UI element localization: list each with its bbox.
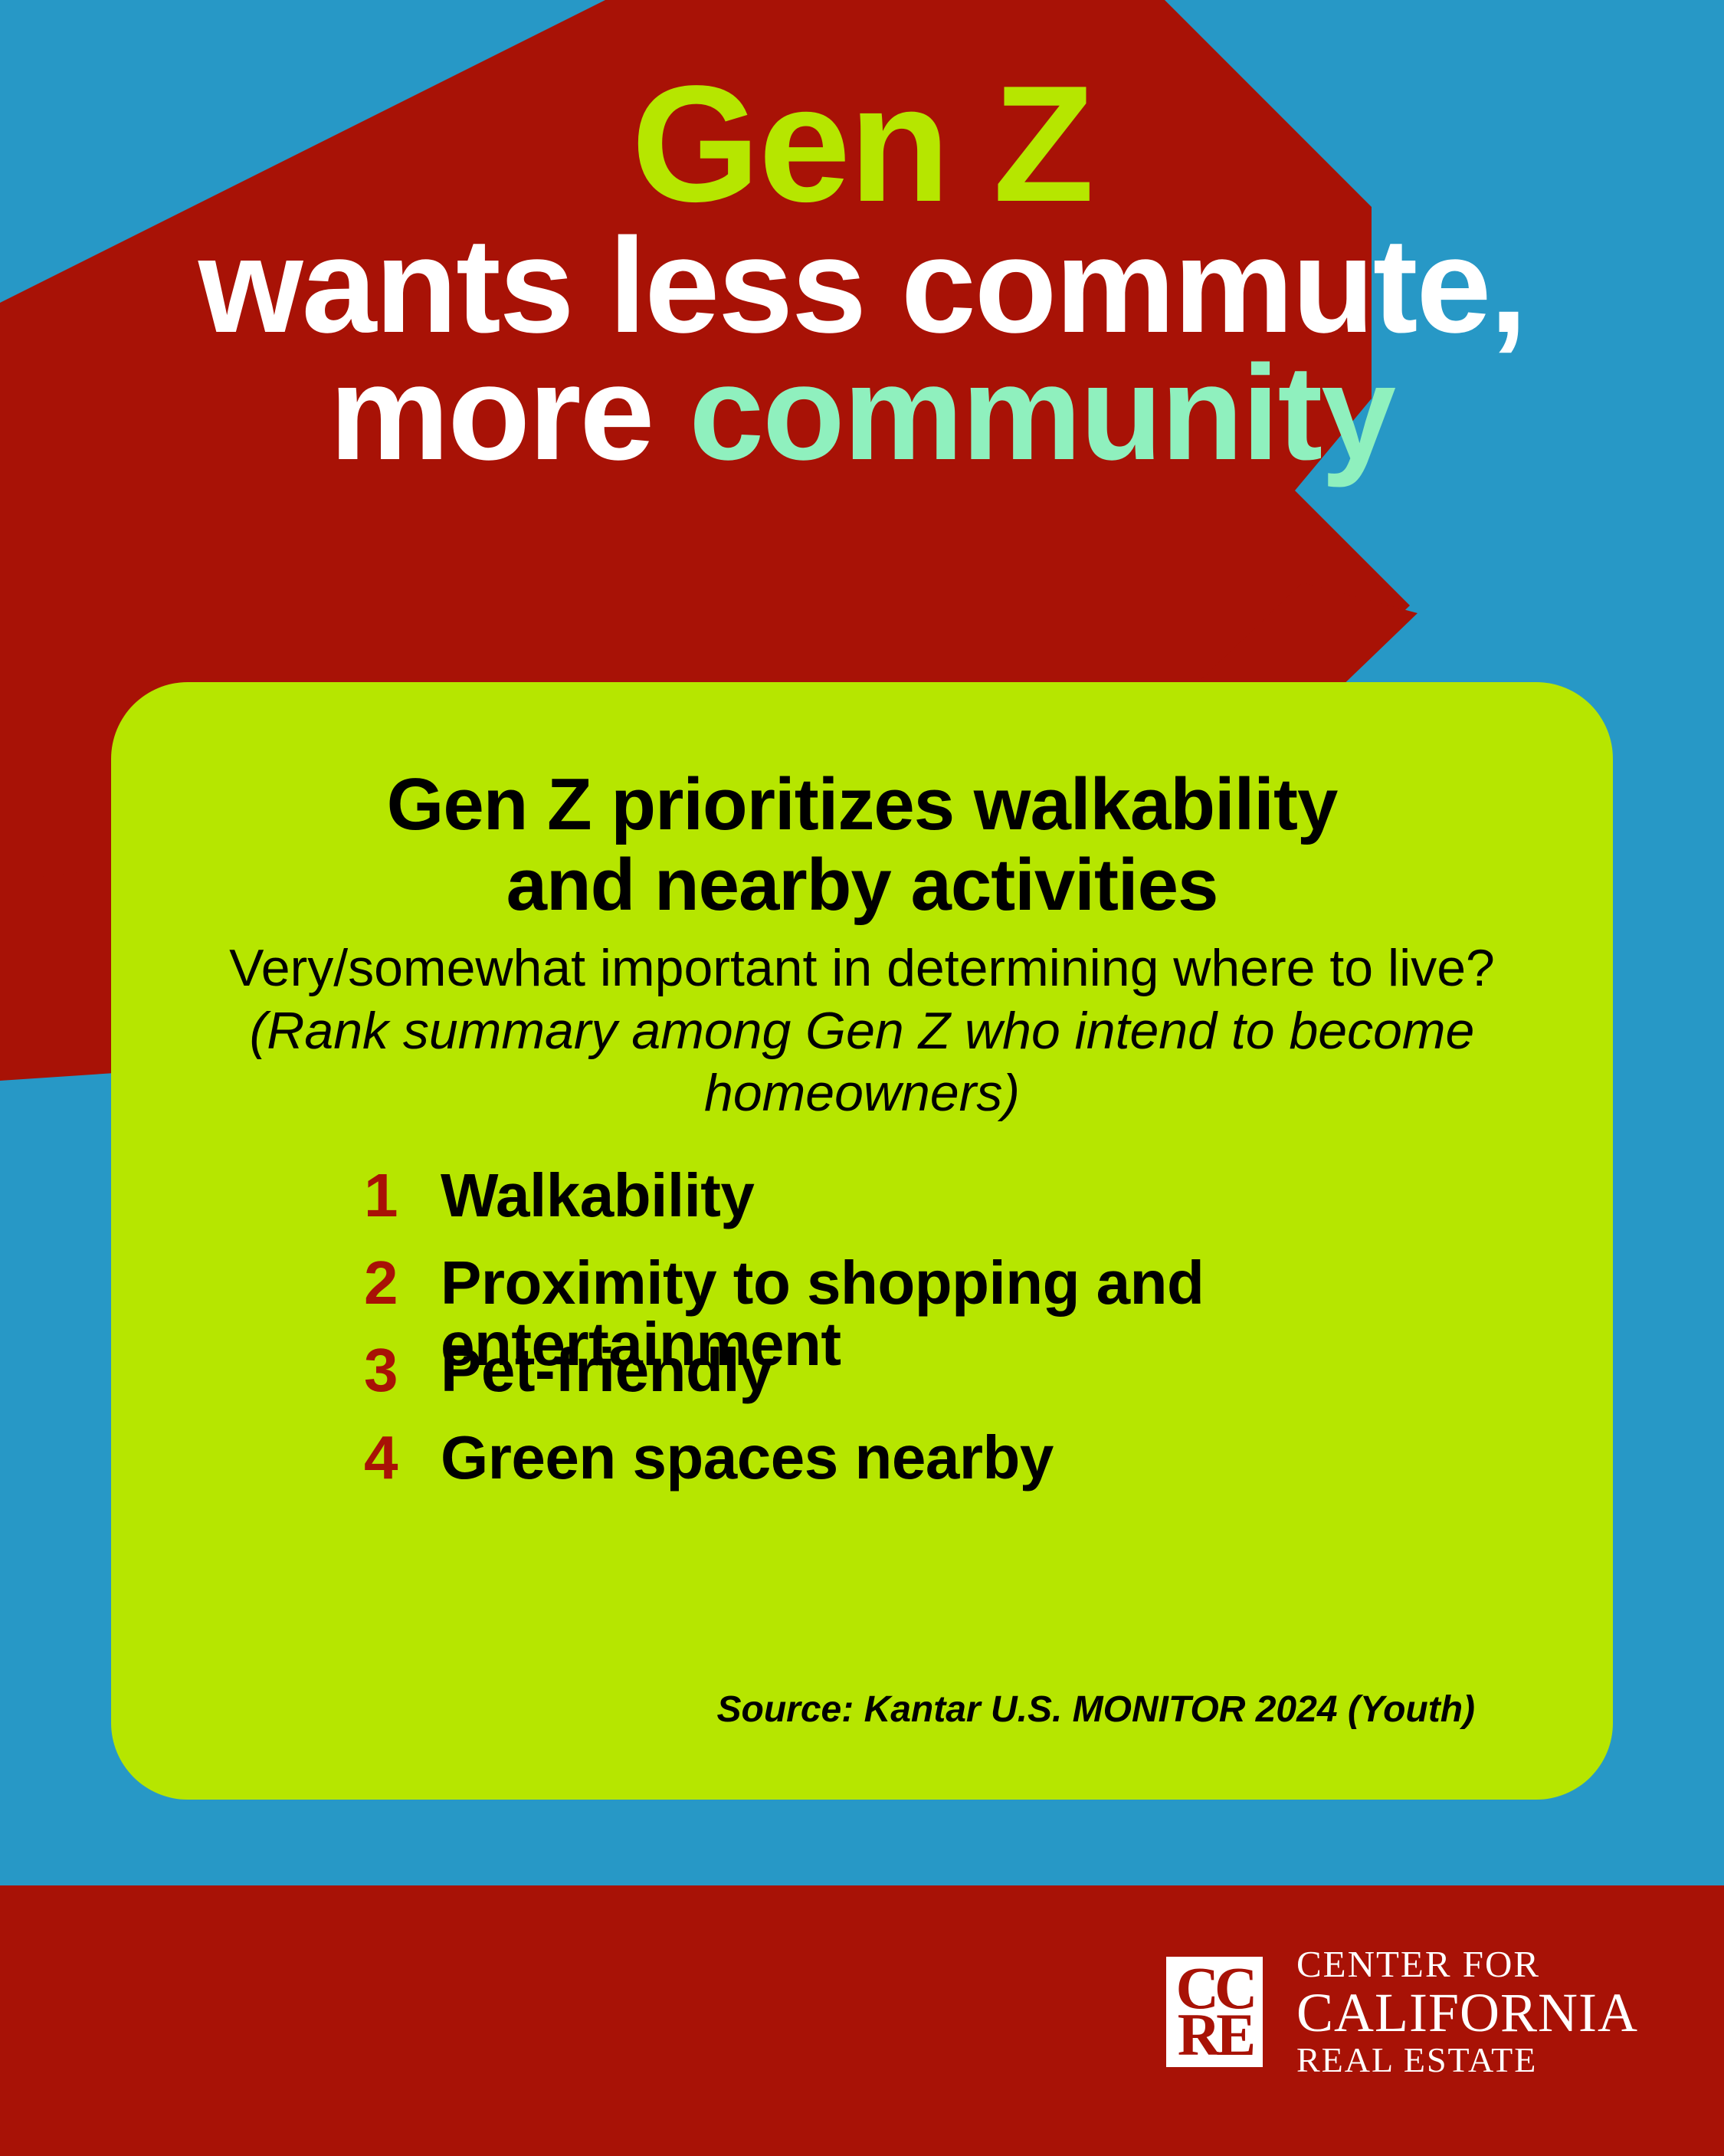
card-title: Gen Z prioritizes walkability and nearby… <box>111 682 1613 925</box>
card-title-line-1: Gen Z prioritizes walkability <box>387 763 1338 845</box>
hero-line-3-accent: community <box>689 338 1395 488</box>
list-item: 4 Green spaces nearby <box>111 1427 1613 1491</box>
infographic-poster: Gen Z wants less commute, more community… <box>0 0 1724 2156</box>
card-subtitle-plain: Very/somewhat important in determining w… <box>229 939 1495 997</box>
list-item: 2 Proximity to shopping and entertainmen… <box>111 1252 1613 1317</box>
rank-label: Green spaces nearby <box>441 1427 1054 1488</box>
rank-number: 1 <box>364 1165 441 1226</box>
hero-line-3: more community <box>0 352 1724 476</box>
card-subtitle-italic: (Rank summary among Gen Z who intend to … <box>250 1002 1475 1123</box>
hero-line-1: Gen Z <box>0 67 1724 220</box>
ccre-logo: CC RE CENTER FOR CALIFORNIA REAL ESTATE <box>1166 1945 1638 2079</box>
content-card: Gen Z prioritizes walkability and nearby… <box>111 682 1613 1800</box>
rank-label: Pet-friendly <box>441 1340 773 1401</box>
ccre-monogram-icon: CC RE <box>1166 1957 1263 2067</box>
rank-number: 2 <box>364 1252 441 1314</box>
rank-number: 3 <box>364 1340 441 1401</box>
hero-title: Gen Z wants less commute, more community <box>0 67 1724 476</box>
rank-number: 4 <box>364 1427 441 1488</box>
footer-bar: CC RE CENTER FOR CALIFORNIA REAL ESTATE <box>0 1885 1724 2156</box>
hero-line-3-plain: more <box>329 338 689 488</box>
list-item: 1 Walkability <box>111 1165 1613 1229</box>
wordmark-line-2: CALIFORNIA <box>1296 1984 1638 2042</box>
wordmark-line-1: CENTER FOR <box>1296 1945 1638 1984</box>
ccre-wordmark: CENTER FOR CALIFORNIA REAL ESTATE <box>1296 1945 1638 2079</box>
wordmark-line-3: REAL ESTATE <box>1296 2042 1638 2079</box>
card-subtitle: Very/somewhat important in determining w… <box>111 925 1613 1125</box>
monogram-bottom: RE <box>1178 2012 1251 2059</box>
hero-line-2: wants less commute, <box>0 225 1724 349</box>
rank-label: Walkability <box>441 1165 754 1226</box>
card-title-line-2: and nearby activities <box>506 844 1218 926</box>
source-citation: Source: Kantar U.S. MONITOR 2024 (Youth) <box>717 1688 1475 1731</box>
ranked-priority-list: 1 Walkability 2 Proximity to shopping an… <box>111 1125 1613 1491</box>
